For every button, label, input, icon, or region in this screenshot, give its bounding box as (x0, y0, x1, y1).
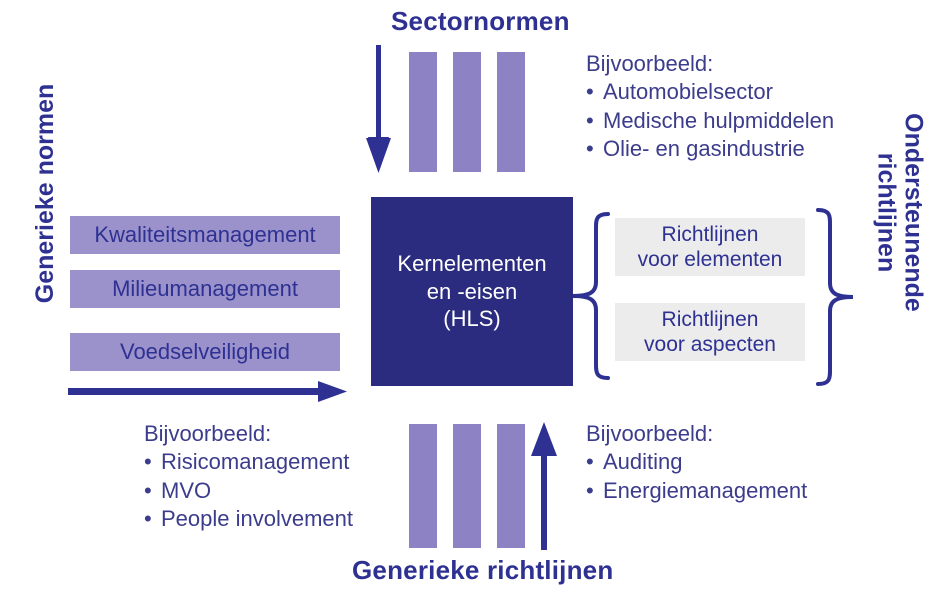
guideline-box-elements[interactable]: Richtlijnen voor elementen (615, 218, 805, 276)
example-block-generic-right: Bijvoorbeeld: Auditing Energiemanagement (586, 420, 807, 505)
example-block-generic-left: Bijvoorbeeld: Risicomanagement MVO Peopl… (144, 420, 353, 534)
core-line-3: (HLS) (397, 305, 546, 333)
generic-norm-label: Voedselveiligheid (120, 339, 290, 365)
generic-guideline-column-bar-1 (409, 424, 437, 548)
guideline-line-1: Richtlijnen (638, 222, 783, 247)
core-line-1: Kernelementen (397, 250, 546, 278)
curly-brace-right-icon (812, 206, 858, 388)
example-item: Energiemanagement (586, 477, 807, 505)
example-header: Bijvoorbeeld: (586, 50, 834, 78)
arrow-up-icon (525, 420, 565, 550)
example-block-sector: Bijvoorbeeld: Automobielsector Medische … (586, 50, 834, 164)
generic-guideline-column-bar-3 (497, 424, 525, 548)
generic-norm-label: Kwaliteitsmanagement (94, 222, 315, 248)
sector-column-bar-3 (497, 52, 525, 172)
generic-norm-bar-voedselveiligheid[interactable]: Voedselveiligheid (70, 333, 340, 371)
top-title-sectornormen: Sectornormen (391, 6, 570, 37)
example-item: Automobielsector (586, 78, 834, 106)
example-header: Bijvoorbeeld: (144, 420, 353, 448)
left-vertical-title-generieke-normen: Generieke normen (32, 93, 59, 303)
core-line-2: en -eisen (397, 278, 546, 306)
example-item: Olie- en gasindustrie (586, 135, 834, 163)
generic-norm-label: Milieumanagement (112, 276, 298, 302)
bottom-title-generieke-richtlijnen: Generieke richtlijnen (352, 555, 613, 586)
right-vertical-title-line-2: richtlijnen (874, 108, 901, 318)
example-item: Auditing (586, 448, 807, 476)
arrow-down-icon (360, 45, 400, 180)
example-item: People involvement (144, 505, 353, 533)
core-elements-box[interactable]: Kernelementen en -eisen (HLS) (371, 197, 573, 386)
generic-norm-bar-kwaliteitsmanagement[interactable]: Kwaliteitsmanagement (70, 216, 340, 254)
example-item: MVO (144, 477, 353, 505)
example-item: Medische hulpmiddelen (586, 107, 834, 135)
example-header: Bijvoorbeeld: (586, 420, 807, 448)
guideline-box-aspects[interactable]: Richtlijnen voor aspecten (615, 303, 805, 361)
right-vertical-title-ondersteunende-richtlijnen: Ondersteunende richtlijnen (874, 108, 927, 318)
sector-column-bar-2 (453, 52, 481, 172)
guideline-line-1: Richtlijnen (644, 307, 776, 332)
sector-column-bar-1 (409, 52, 437, 172)
guideline-line-2: voor elementen (638, 247, 783, 272)
example-item: Risicomanagement (144, 448, 353, 476)
curly-brace-left-icon (568, 210, 614, 382)
arrow-right-icon (62, 378, 352, 408)
guideline-line-2: voor aspecten (644, 332, 776, 357)
generic-norm-bar-milieumanagement[interactable]: Milieumanagement (70, 270, 340, 308)
generic-guideline-column-bar-2 (453, 424, 481, 548)
right-vertical-title-line-1: Ondersteunende (900, 108, 927, 318)
